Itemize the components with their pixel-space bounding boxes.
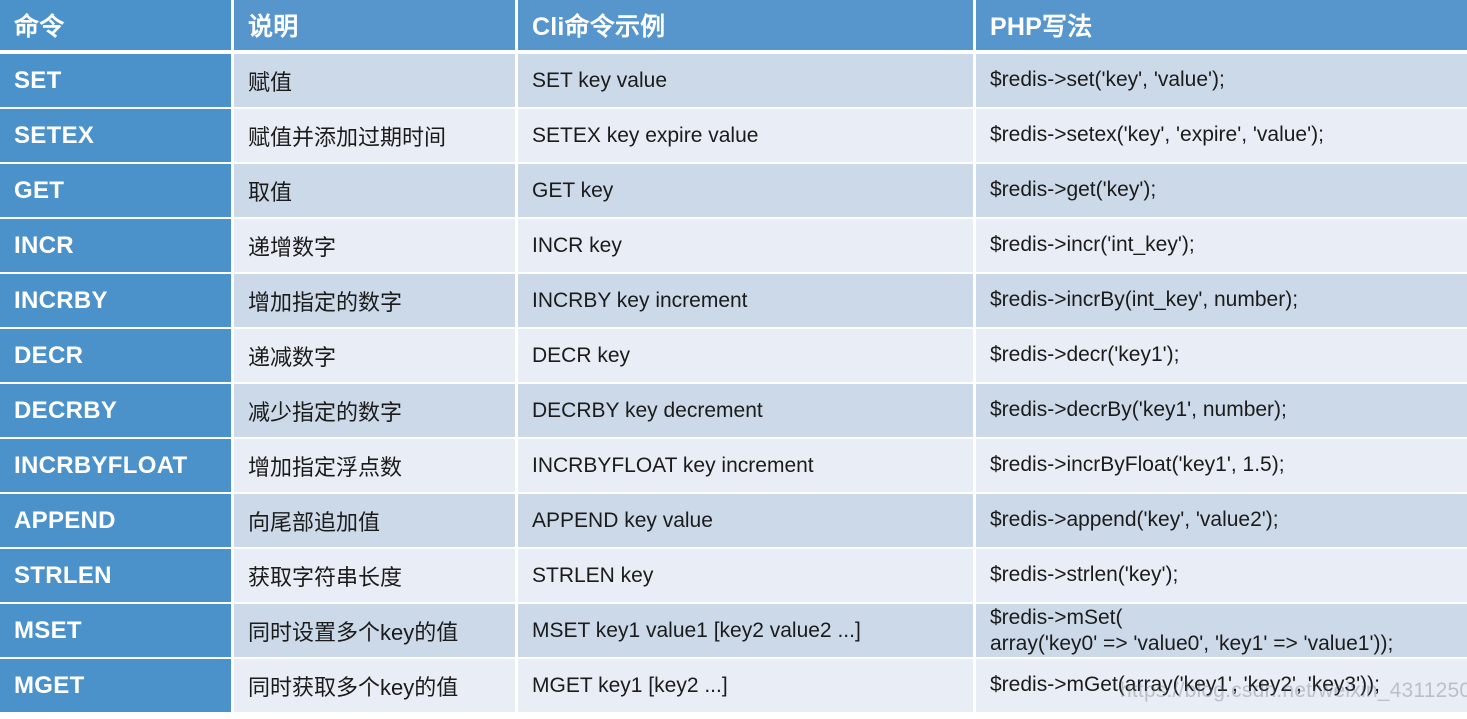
table-row: DECR 递减数字 DECR key $redis->decr('key1');: [0, 327, 1467, 382]
cell-command: SET: [0, 52, 231, 107]
table-row: INCRBYFLOAT 增加指定浮点数 INCRBYFLOAT key incr…: [0, 437, 1467, 492]
table-row: DECRBY 减少指定的数字 DECRBY key decrement $red…: [0, 382, 1467, 437]
table-row: MSET 同时设置多个key的值 MSET key1 value1 [key2 …: [0, 602, 1467, 657]
column-header-description: 说明: [231, 0, 515, 52]
cell-php-usage: $redis->append('key', 'value2');: [973, 492, 1467, 547]
table-row: GET 取值 GET key $redis->get('key');: [0, 162, 1467, 217]
cell-php-usage: $redis->strlen('key');: [973, 547, 1467, 602]
cell-php-usage: $redis->decr('key1');: [973, 327, 1467, 382]
cell-cli-example: SETEX key expire value: [515, 107, 973, 162]
cell-cli-example: INCRBY key increment: [515, 272, 973, 327]
cell-php-usage: $redis->incr('int_key');: [973, 217, 1467, 272]
cell-php-usage: $redis->incrBy(int_key', number);: [973, 272, 1467, 327]
table-row: APPEND 向尾部追加值 APPEND key value $redis->a…: [0, 492, 1467, 547]
cell-command: DECRBY: [0, 382, 231, 437]
cell-command: SETEX: [0, 107, 231, 162]
table-header-row: 命令 说明 Cli命令示例 PHP写法: [0, 0, 1467, 52]
cell-cli-example: STRLEN key: [515, 547, 973, 602]
cell-command: DECR: [0, 327, 231, 382]
column-header-php-usage: PHP写法: [973, 0, 1467, 52]
cell-description: 赋值: [231, 52, 515, 107]
cell-cli-example: DECRBY key decrement: [515, 382, 973, 437]
cell-cli-example: MGET key1 [key2 ...]: [515, 657, 973, 712]
cell-description: 递减数字: [231, 327, 515, 382]
cell-php-usage: $redis->set('key', 'value');: [973, 52, 1467, 107]
table-row: INCRBY 增加指定的数字 INCRBY key increment $red…: [0, 272, 1467, 327]
cell-cli-example: INCR key: [515, 217, 973, 272]
cell-command: STRLEN: [0, 547, 231, 602]
cell-description: 减少指定的数字: [231, 382, 515, 437]
cell-php-usage: $redis->get('key');: [973, 162, 1467, 217]
cell-cli-example: MSET key1 value1 [key2 value2 ...]: [515, 602, 973, 657]
cell-description: 同时设置多个key的值: [231, 602, 515, 657]
cell-php-usage: $redis->setex('key', 'expire', 'value');: [973, 107, 1467, 162]
redis-command-table: 命令 说明 Cli命令示例 PHP写法 SET 赋值 SET key value…: [0, 0, 1467, 719]
table-row: SET 赋值 SET key value $redis->set('key', …: [0, 52, 1467, 107]
cell-description: 取值: [231, 162, 515, 217]
cell-php-usage-text: $redis->mSet( array('key0' => 'value0', …: [990, 605, 1393, 655]
cell-php-usage: $redis->mGet(array('key1', 'key2', 'key3…: [973, 657, 1467, 712]
cell-php-usage: $redis->mSet( array('key0' => 'value0', …: [973, 602, 1467, 657]
cell-description: 同时获取多个key的值: [231, 657, 515, 712]
cell-description: 赋值并添加过期时间: [231, 107, 515, 162]
cell-command: APPEND: [0, 492, 231, 547]
cell-php-usage: $redis->incrByFloat('key1', 1.5);: [973, 437, 1467, 492]
cell-command: MSET: [0, 602, 231, 657]
cell-command: INCR: [0, 217, 231, 272]
cell-cli-example: INCRBYFLOAT key increment: [515, 437, 973, 492]
table-row: MGET 同时获取多个key的值 MGET key1 [key2 ...] $r…: [0, 657, 1467, 712]
cell-command: MGET: [0, 657, 231, 712]
cell-description: 向尾部追加值: [231, 492, 515, 547]
cell-command: GET: [0, 162, 231, 217]
cell-description: 增加指定浮点数: [231, 437, 515, 492]
table-row: STRLEN 获取字符串长度 STRLEN key $redis->strlen…: [0, 547, 1467, 602]
cell-cli-example: APPEND key value: [515, 492, 973, 547]
column-header-cli-example: Cli命令示例: [515, 0, 973, 52]
cell-command: INCRBY: [0, 272, 231, 327]
cell-description: 递增数字: [231, 217, 515, 272]
cell-cli-example: SET key value: [515, 52, 973, 107]
cell-description: 增加指定的数字: [231, 272, 515, 327]
cell-description: 获取字符串长度: [231, 547, 515, 602]
table-row: SETEX 赋值并添加过期时间 SETEX key expire value $…: [0, 107, 1467, 162]
table-row: INCR 递增数字 INCR key $redis->incr('int_key…: [0, 217, 1467, 272]
cell-cli-example: GET key: [515, 162, 973, 217]
cell-php-usage: $redis->decrBy('key1', number);: [973, 382, 1467, 437]
cell-cli-example: DECR key: [515, 327, 973, 382]
cell-command: INCRBYFLOAT: [0, 437, 231, 492]
column-header-command: 命令: [0, 0, 231, 52]
